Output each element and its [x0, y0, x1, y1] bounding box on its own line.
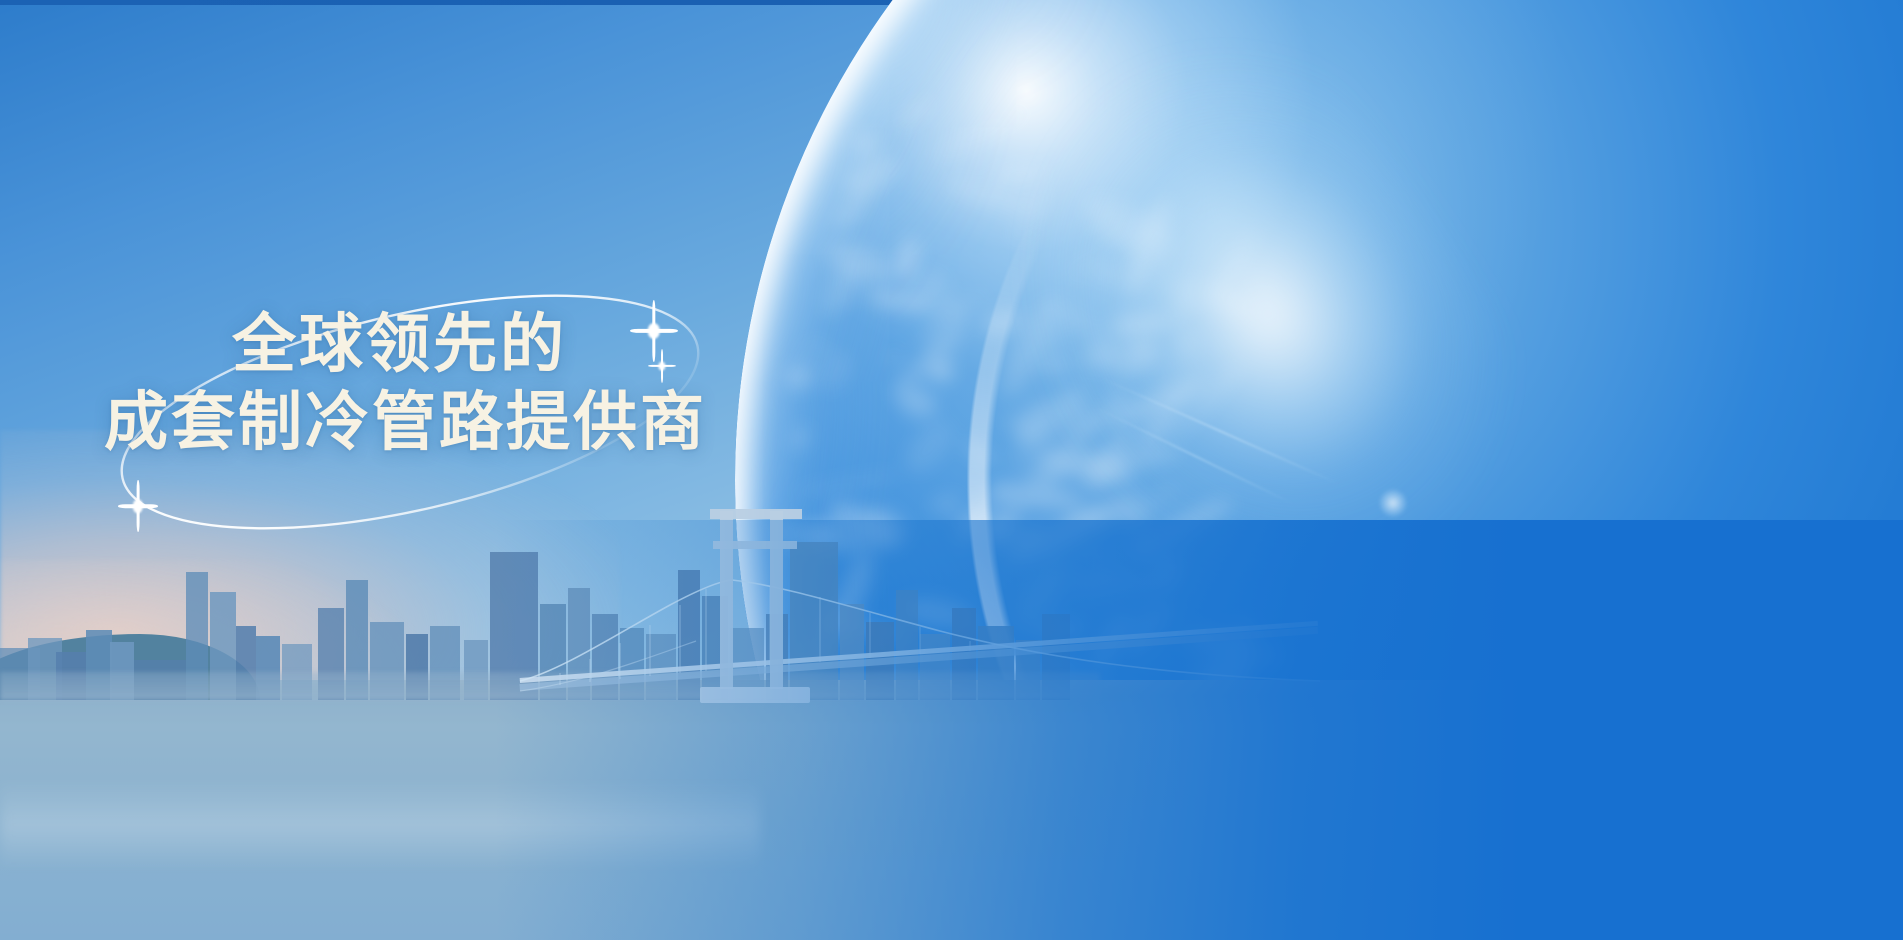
sparkle-icon [118, 480, 158, 532]
blue-overlay-gradient [0, 520, 1903, 940]
bridge-tower-crossbeam-top [710, 509, 802, 519]
headline-block: 全球领先的 成套制冷管路提供商 [104, 305, 864, 461]
headline-line-2: 成套制冷管路提供商 [104, 383, 864, 461]
top-edge-strip [0, 0, 1903, 5]
hero-banner: 全球领先的 成套制冷管路提供商 [0, 0, 1903, 940]
headline-line-1: 全球领先的 [104, 305, 864, 383]
sparkle-icon [648, 349, 676, 383]
